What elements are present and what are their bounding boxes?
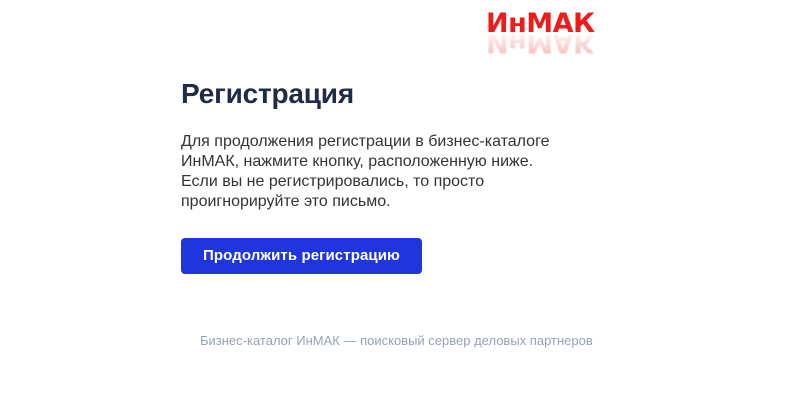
footer-tagline: Бизнес-каталог ИнМАК — поисковый сервер …: [200, 333, 620, 349]
paragraph-line: проигнорируйте это письмо.: [181, 192, 581, 212]
page-title: Регистрация: [181, 78, 621, 110]
continue-registration-button[interactable]: Продолжить регистрацию: [181, 238, 422, 274]
email-content: Регистрация Для продолжения регистрации …: [181, 78, 621, 274]
brand-logo: ИнМАК ИнМАК: [486, 10, 596, 60]
cta-container: Продолжить регистрацию: [181, 238, 621, 274]
email-body: ИнМАК ИнМАК Регистрация Для продолжения …: [0, 0, 800, 400]
body-paragraph: Для продолжения регистрации в бизнес-кат…: [181, 132, 581, 212]
brand-logo-reflection-icon: ИнМАК: [486, 28, 595, 56]
email-footer: Бизнес-каталог ИнМАК — поисковый сервер …: [200, 333, 620, 349]
paragraph-line: Для продолжения регистрации в бизнес-кат…: [181, 132, 581, 152]
paragraph-line: Если вы не регистрировались, то просто: [181, 172, 581, 192]
paragraph-line: ИнМАК, нажмите кнопку, расположенную ниж…: [181, 152, 581, 172]
